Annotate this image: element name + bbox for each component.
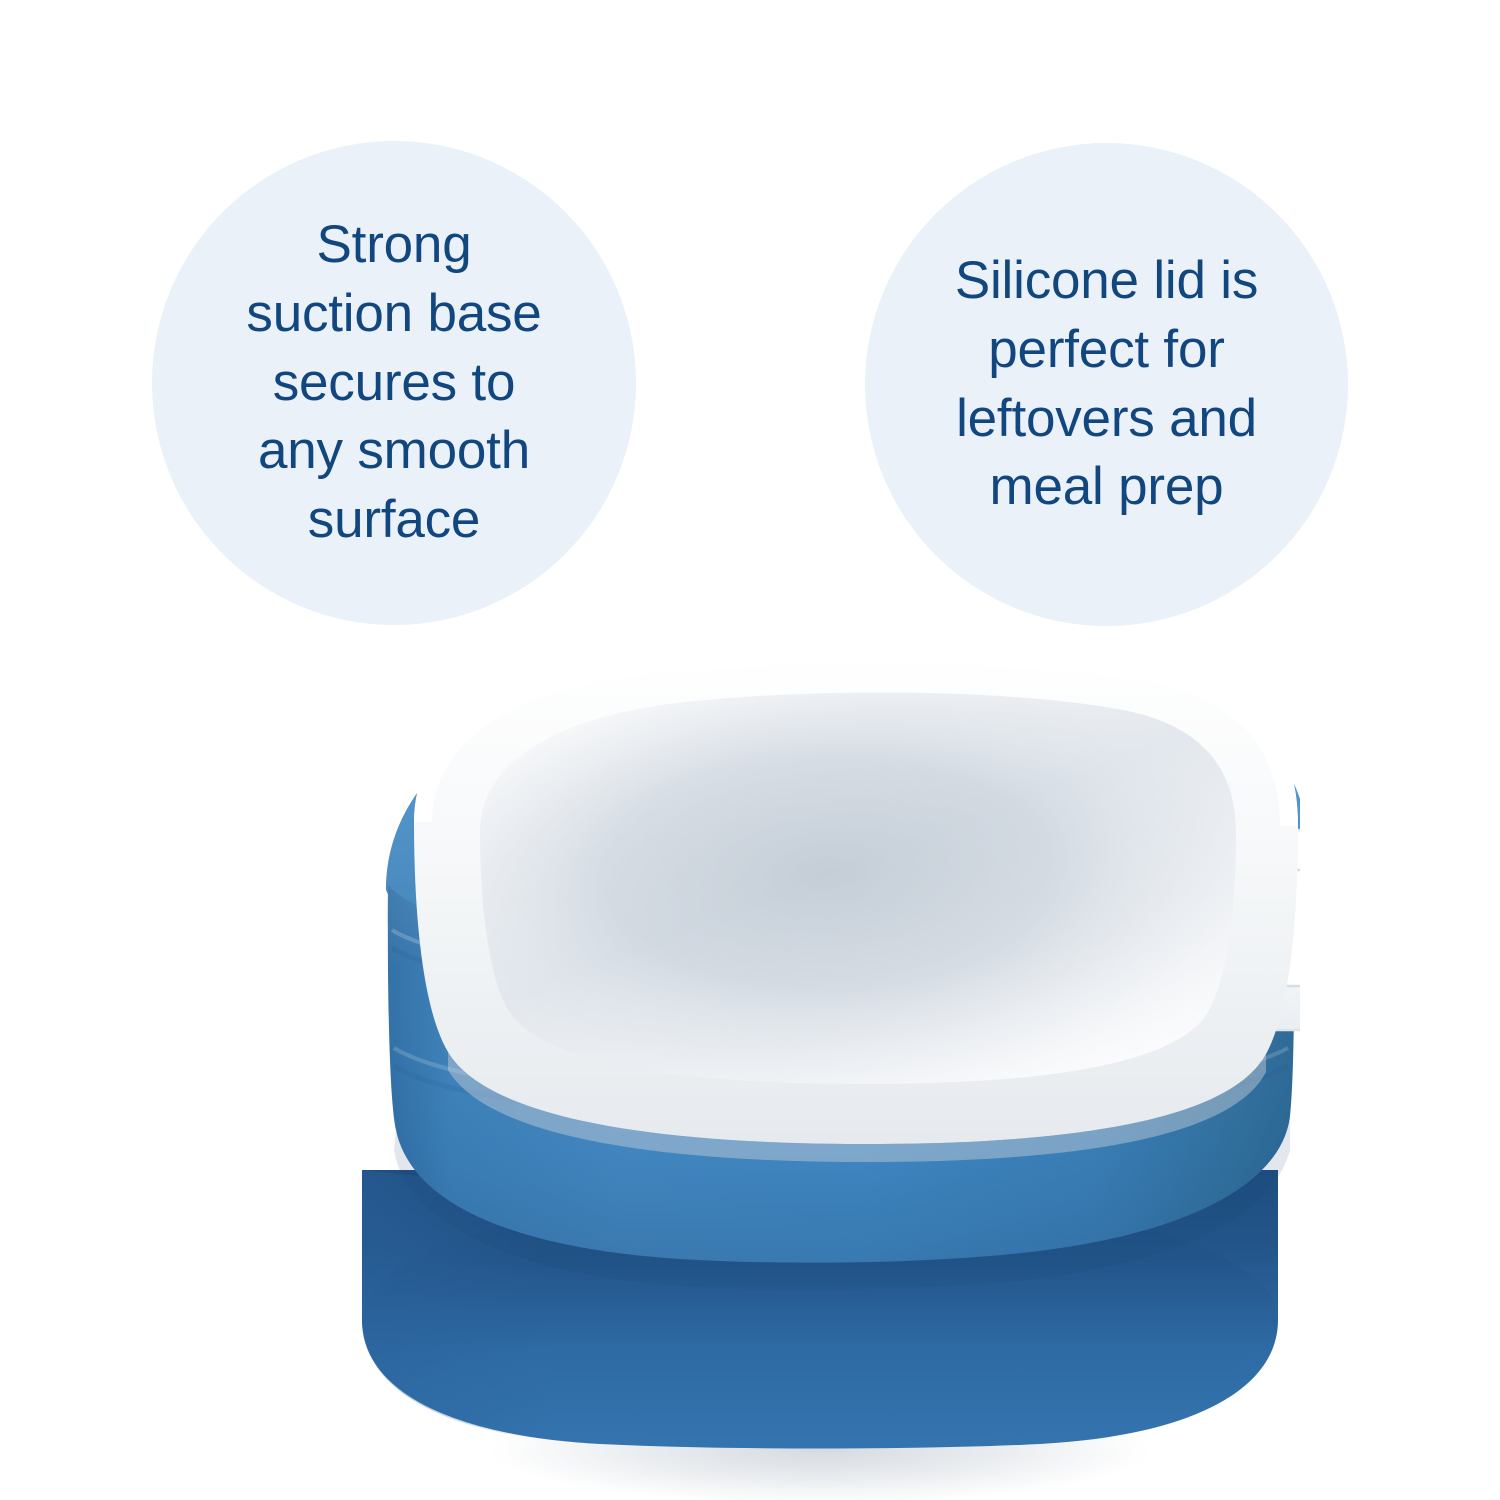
callout-text-silicone-lid: Silicone lid is perfect for leftovers an… — [935, 247, 1278, 523]
callout-text-suction-base: Strong suction base secures to any smoot… — [220, 211, 567, 555]
callout-bubble-suction-base: Strong suction base secures to any smoot… — [152, 141, 636, 625]
infographic-canvas: Strong suction base secures to any smoot… — [0, 0, 1500, 1500]
silicone-lid — [414, 643, 1300, 1162]
product-image-suction-bowl — [300, 630, 1300, 1500]
callout-bubble-silicone-lid: Silicone lid is perfect for leftovers an… — [865, 143, 1348, 626]
